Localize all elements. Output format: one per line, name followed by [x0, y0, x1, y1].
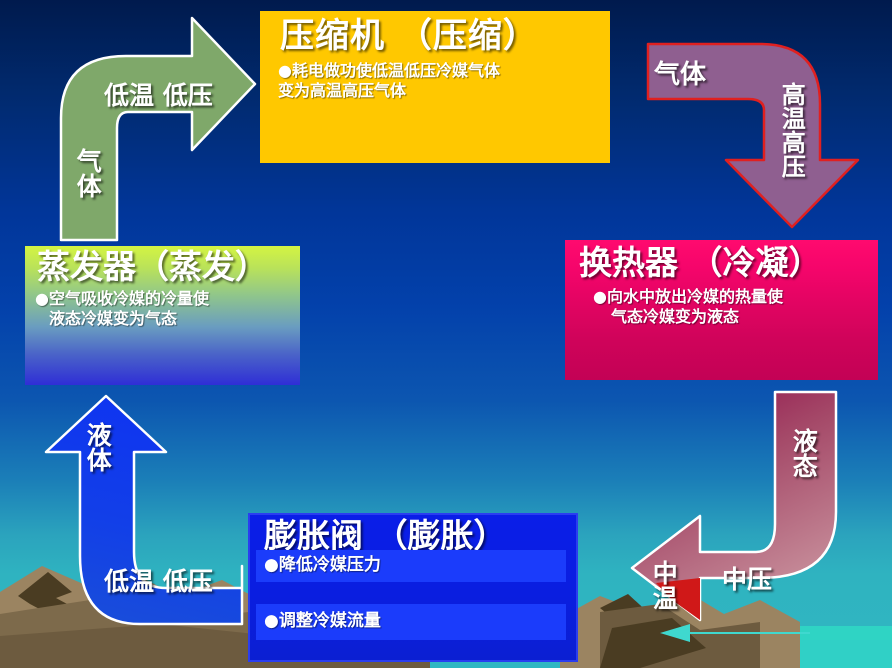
expansion-bullet-row-2: ●调整冷媒流量	[256, 604, 566, 640]
expansion-bullet-row-1: ●降低冷媒压力	[256, 550, 566, 582]
arrow-evaporator-to-compressor	[61, 18, 255, 240]
compressor-desc-line2: 变为高温高压气体	[260, 81, 610, 101]
arrow-head-accent	[656, 578, 700, 620]
heat-exchanger-title: 换热器 （冷凝）	[565, 240, 878, 281]
expansion-bullet-2: ●调整冷媒流量	[256, 611, 381, 633]
node-heat-exchanger[interactable]: 换热器 （冷凝） ●向水中放出冷媒的热量使 气态冷媒变为液态	[565, 240, 878, 380]
node-evaporator[interactable]: 蒸发器（蒸发） ●空气吸收冷媒的冷量使 液态冷媒变为气态	[25, 246, 300, 385]
compressor-title: 压缩机 （压缩）	[260, 11, 610, 55]
expansion-valve-title: 膨胀阀 （膨胀）	[250, 515, 576, 554]
arrow-expansion-to-evaporator	[46, 396, 242, 624]
compressor-desc-line1: ●耗电做功使低温低压冷媒气体	[260, 55, 610, 81]
evaporator-title: 蒸发器（蒸发）	[25, 246, 300, 285]
node-compressor[interactable]: 压缩机 （压缩） ●耗电做功使低温低压冷媒气体 变为高温高压气体	[260, 11, 610, 163]
refrigeration-cycle-diagram: 低温 低压 气体 气体 高温高压 液态 中压 中温 液体 低温 低压 压缩机 （…	[0, 0, 892, 668]
expansion-bullet-1: ●降低冷媒压力	[256, 555, 381, 577]
heat-exchanger-desc-line2: 气态冷媒变为液态	[565, 307, 878, 327]
evaporator-desc-line1: ●空气吸收冷媒的冷量使	[25, 285, 300, 309]
heat-exchanger-desc-line1: ●向水中放出冷媒的热量使	[565, 281, 878, 307]
arrow-compressor-to-heatexchanger	[648, 44, 858, 227]
node-expansion-valve[interactable]: 膨胀阀 （膨胀） ●降低冷媒压力 ●调整冷媒流量	[248, 513, 578, 662]
evaporator-desc-line2: 液态冷媒变为气态	[25, 309, 300, 329]
